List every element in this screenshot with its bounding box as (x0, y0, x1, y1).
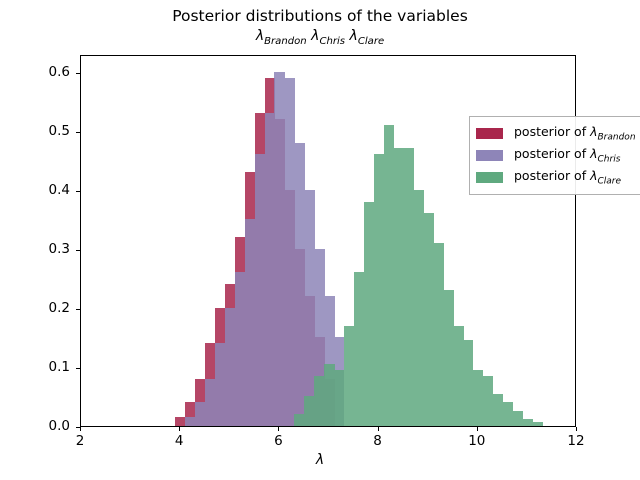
subtitle-symbol-clare: λClare (350, 28, 385, 44)
x-tick (477, 427, 478, 431)
x-tick (179, 427, 180, 431)
y-tick-label: 0.2 (0, 300, 70, 316)
y-tick (76, 250, 80, 251)
y-tick-label: 0.3 (0, 241, 70, 257)
chart-subtitle: λBrandon λChris λClare (0, 26, 640, 52)
legend-swatch (476, 172, 503, 183)
y-tick (76, 427, 80, 428)
y-tick (76, 73, 80, 74)
subtitle-symbol-brandon: λBrandon (256, 28, 307, 44)
legend-swatch (476, 128, 503, 139)
subtitle-symbol-chris: λChris (311, 28, 345, 44)
chart-title-block: Posterior distributions of the variables… (0, 6, 640, 52)
x-tick-label: 4 (149, 433, 209, 449)
x-tick-label: 6 (248, 433, 308, 449)
histogram-bars (81, 56, 575, 426)
plot-area: posterior of λBrandonposterior of λChris… (80, 55, 576, 427)
x-tick (278, 427, 279, 431)
histogram-bar (532, 422, 543, 426)
page-title: Posterior distributions of the variables (0, 6, 640, 26)
legend-label: posterior of λChris (514, 146, 620, 165)
y-tick-label: 0.1 (0, 359, 70, 375)
legend-label: posterior of λBrandon (514, 124, 636, 143)
series-clare (81, 56, 575, 426)
x-tick-label: 10 (447, 433, 507, 449)
y-tick-label: 0.0 (0, 418, 70, 434)
legend-item-brandon[interactable]: posterior of λBrandon (476, 122, 640, 144)
y-tick (76, 368, 80, 369)
x-tick (80, 427, 81, 431)
figure: Posterior distributions of the variables… (0, 0, 640, 480)
y-tick-label: 0.6 (0, 64, 70, 80)
x-tick (378, 427, 379, 431)
x-tick-label: 2 (50, 433, 110, 449)
legend[interactable]: posterior of λBrandonposterior of λChris… (469, 116, 640, 195)
y-tick (76, 132, 80, 133)
x-tick-label: 12 (546, 433, 606, 449)
legend-item-chris[interactable]: posterior of λChris (476, 144, 640, 166)
legend-item-clare[interactable]: posterior of λClare (476, 166, 640, 188)
y-tick (76, 191, 80, 192)
legend-swatch (476, 150, 503, 161)
y-tick-label: 0.4 (0, 182, 70, 198)
y-tick (76, 309, 80, 310)
x-axis-label: λ (0, 452, 640, 468)
y-tick-label: 0.5 (0, 123, 70, 139)
x-tick-label: 8 (348, 433, 408, 449)
x-tick (576, 427, 577, 431)
legend-label: posterior of λClare (514, 168, 621, 187)
